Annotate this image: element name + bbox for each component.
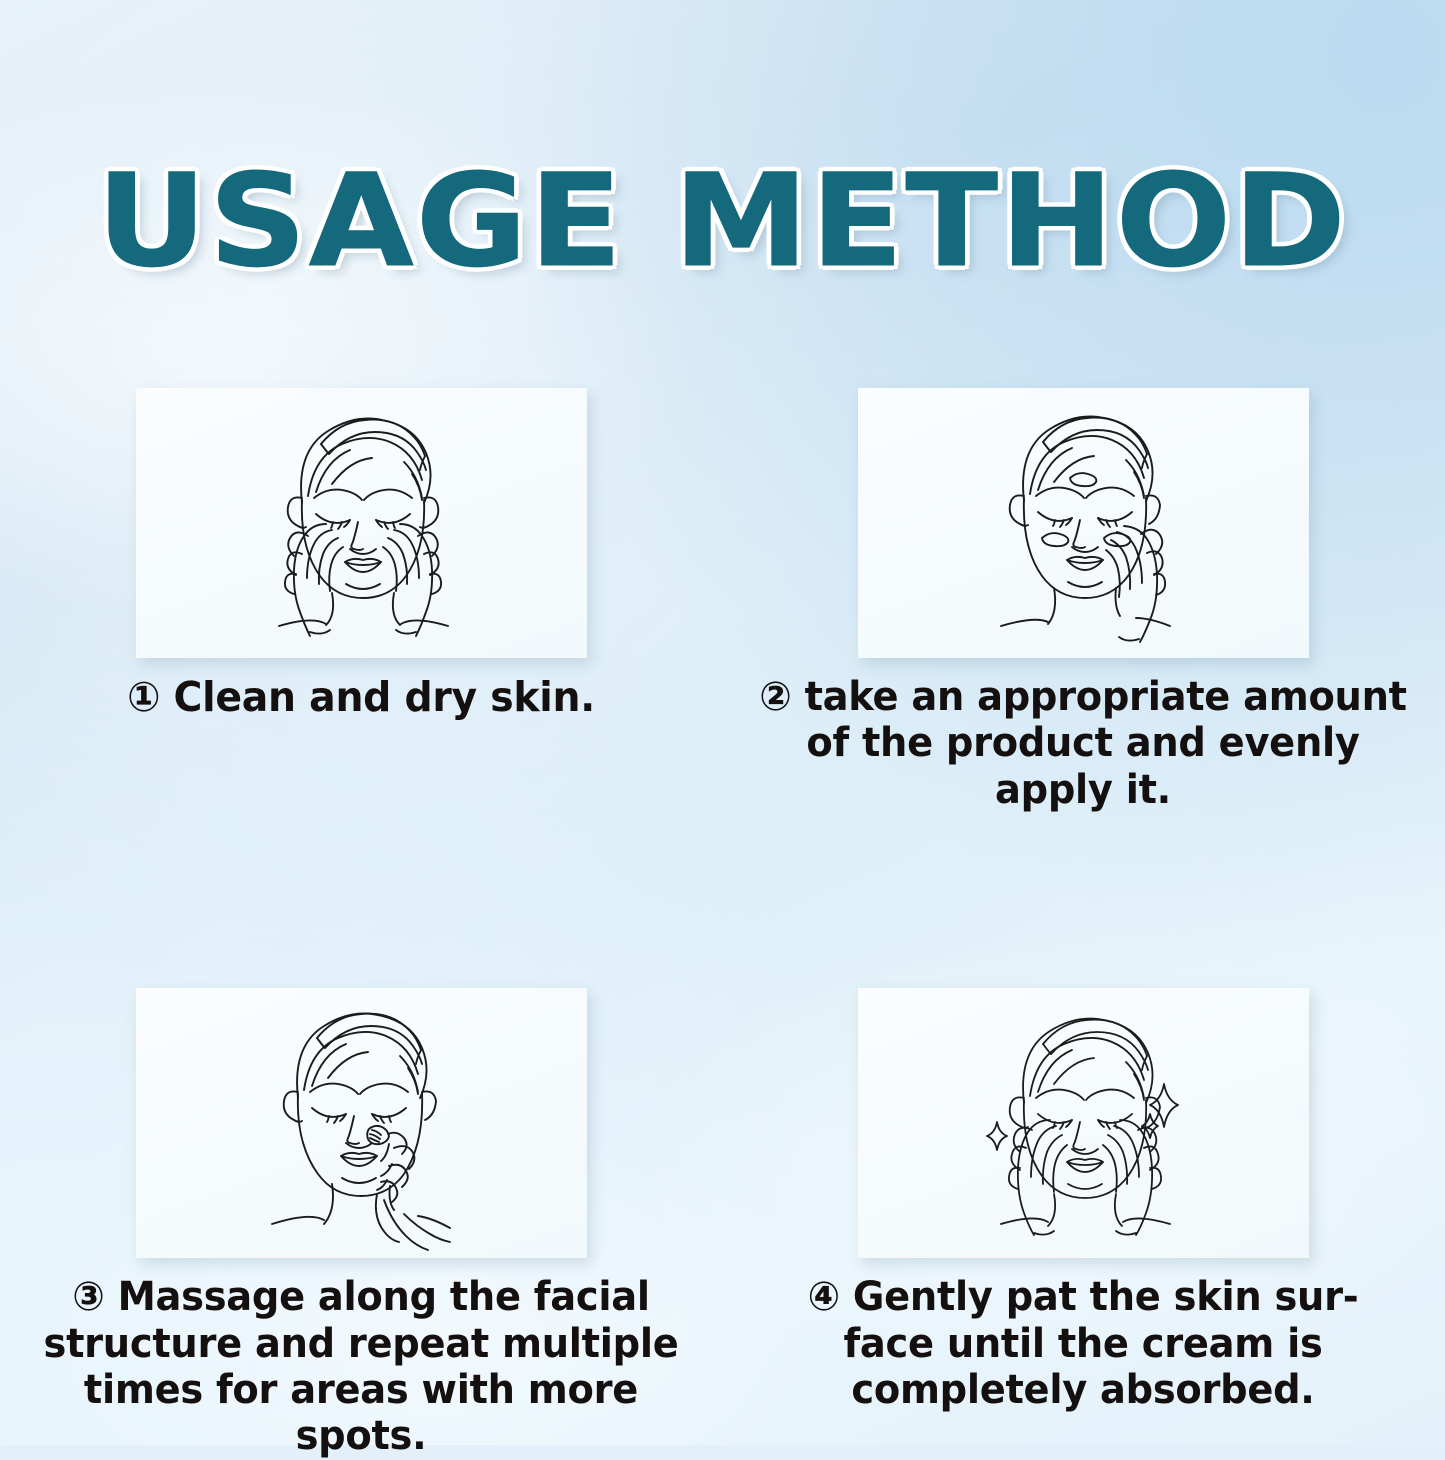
woman-face-both-hands-on-cheeks-icon (136, 388, 587, 658)
step-2: ② take an appropriate amount of the prod… (722, 388, 1444, 813)
step-4-image-card (858, 988, 1309, 1258)
usage-method-infographic: USAGE METHOD (0, 0, 1445, 1445)
woman-face-finger-massage-icon (136, 988, 587, 1258)
step-3-caption: ③ Massage along the facial structure and… (14, 1274, 707, 1460)
steps-row-1: ① Clean and dry skin. (0, 388, 1445, 813)
steps-row-2: ③ Massage along the facial structure and… (0, 988, 1445, 1460)
page-title: USAGE METHOD (97, 158, 1348, 286)
step-3: ③ Massage along the facial structure and… (0, 988, 722, 1460)
steps-grid: ① Clean and dry skin. (0, 388, 1445, 1460)
sparkle-left (987, 1122, 1007, 1150)
woman-face-cream-dots-icon (858, 388, 1309, 658)
step-4: ④ Gently pat the skin sur-face until the… (722, 988, 1444, 1460)
step-1-caption: ① Clean and dry skin. (14, 674, 707, 722)
woman-face-patting-sparkles-icon (858, 988, 1309, 1258)
page-title-container: USAGE METHOD (0, 158, 1445, 286)
step-2-image-card (858, 388, 1309, 658)
step-2-caption: ② take an appropriate amount of the prod… (736, 674, 1429, 813)
step-1-image-card (136, 388, 587, 658)
step-1: ① Clean and dry skin. (0, 388, 722, 813)
step-3-image-card (136, 988, 587, 1258)
step-4-caption: ④ Gently pat the skin sur-face until the… (736, 1274, 1429, 1413)
